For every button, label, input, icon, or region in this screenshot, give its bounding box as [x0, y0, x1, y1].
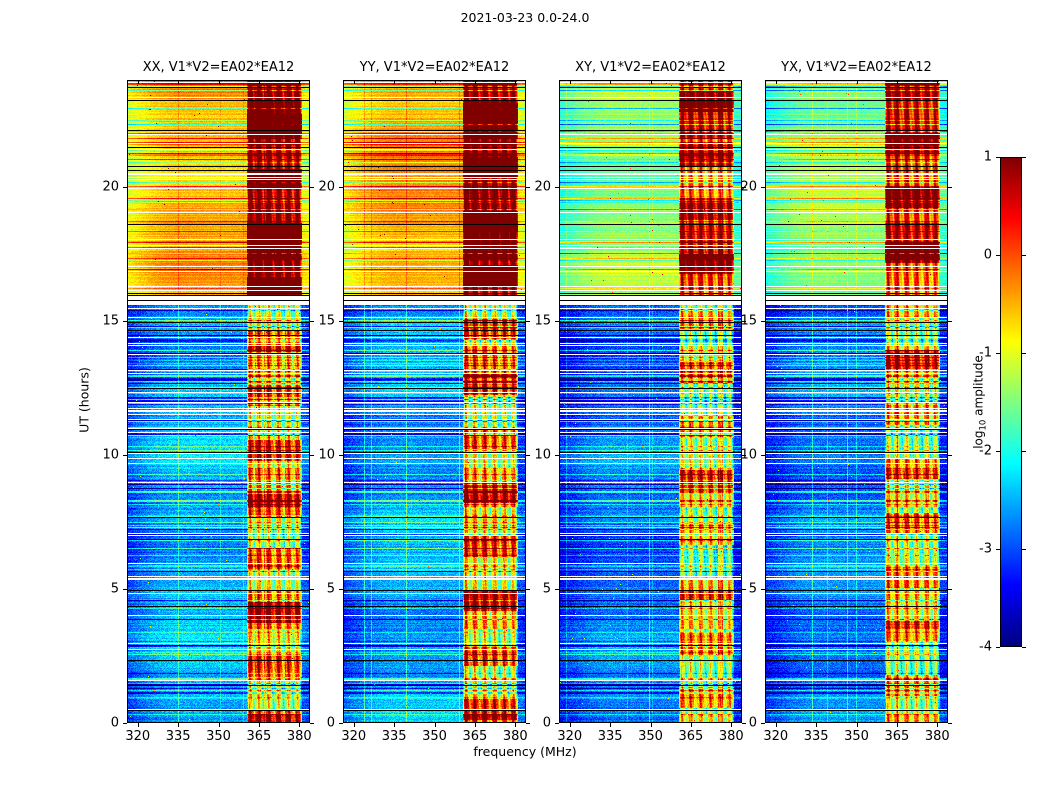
colorbar-tick-label-5: 1	[984, 150, 992, 165]
colorbar-tick-right-5	[1022, 157, 1026, 158]
colorbar-tick-right-2	[1022, 451, 1026, 452]
y-tick-yy-3	[339, 321, 343, 322]
x-tick-top-yx-0	[776, 80, 777, 84]
x-tick-label-xx-1: 335	[166, 729, 191, 744]
panel-yx[interactable]: YX, V1*V2=EA02*EA12320335350365380051015…	[765, 80, 948, 723]
y-tick-right-xx-0	[310, 723, 314, 724]
y-tick-xx-2	[123, 455, 127, 456]
colorbar-tick-right-0	[1022, 647, 1026, 648]
y-tick-right-xx-1	[310, 589, 314, 590]
y-tick-right-yy-4	[526, 187, 530, 188]
y-tick-label-yy-2: 10	[318, 448, 335, 463]
x-tick-xx-1	[178, 723, 179, 727]
x-tick-top-xx-4	[299, 80, 300, 84]
x-tick-yx-1	[816, 723, 817, 727]
y-tick-label-xy-1: 5	[543, 582, 551, 597]
x-tick-top-yx-4	[937, 80, 938, 84]
spectrogram-yx	[765, 80, 948, 723]
panel-xy[interactable]: XY, V1*V2=EA02*EA12320335350365380051015…	[559, 80, 742, 723]
x-tick-yy-2	[435, 723, 436, 727]
x-tick-label-xx-4: 380	[287, 729, 312, 744]
y-tick-right-xx-2	[310, 455, 314, 456]
x-tick-xy-4	[731, 723, 732, 727]
y-tick-right-yy-1	[526, 589, 530, 590]
y-tick-right-xy-0	[742, 723, 746, 724]
y-tick-yy-4	[339, 187, 343, 188]
x-tick-xx-3	[259, 723, 260, 727]
x-tick-label-xx-0: 320	[125, 729, 150, 744]
x-tick-label-yy-0: 320	[341, 729, 366, 744]
x-tick-label-xy-3: 365	[678, 729, 703, 744]
colorbar-tick-2	[996, 451, 1000, 452]
x-tick-xy-0	[570, 723, 571, 727]
spectrogram-xy	[559, 80, 742, 723]
y-tick-yx-2	[761, 455, 765, 456]
x-tick-label-yx-2: 350	[844, 729, 869, 744]
y-tick-right-yy-0	[526, 723, 530, 724]
x-tick-top-yy-0	[354, 80, 355, 84]
x-tick-top-xx-1	[178, 80, 179, 84]
x-tick-yy-3	[475, 723, 476, 727]
y-tick-right-yx-2	[948, 455, 952, 456]
colorbar-tick-label-4: 0	[984, 248, 992, 263]
x-tick-top-yy-4	[515, 80, 516, 84]
panel-title-yy: YY, V1*V2=EA02*EA12	[360, 60, 510, 80]
x-tick-label-xy-2: 350	[638, 729, 663, 744]
y-tick-label-yx-4: 20	[740, 180, 757, 195]
x-tick-yx-0	[776, 723, 777, 727]
x-tick-yx-2	[857, 723, 858, 727]
y-tick-label-yy-0: 0	[327, 716, 335, 731]
x-tick-top-yx-2	[857, 80, 858, 84]
colorbar-label-prefix: log	[971, 430, 985, 448]
colorbar-tick-right-4	[1022, 255, 1026, 256]
x-axis-label: frequency (MHz)	[0, 744, 1050, 759]
y-tick-xx-3	[123, 321, 127, 322]
y-tick-yx-4	[761, 187, 765, 188]
x-tick-yy-0	[354, 723, 355, 727]
y-tick-label-xy-2: 10	[534, 448, 551, 463]
y-tick-yx-1	[761, 589, 765, 590]
y-tick-right-yx-0	[948, 723, 952, 724]
y-tick-yx-0	[761, 723, 765, 724]
y-tick-xy-1	[555, 589, 559, 590]
x-tick-label-xx-2: 350	[206, 729, 231, 744]
x-tick-label-yx-3: 365	[884, 729, 909, 744]
y-tick-label-yy-4: 20	[318, 180, 335, 195]
y-tick-xy-4	[555, 187, 559, 188]
y-tick-right-yx-3	[948, 321, 952, 322]
y-tick-label-yx-1: 5	[749, 582, 757, 597]
y-tick-label-yx-0: 0	[749, 716, 757, 731]
y-axis-label: UT (hours)	[77, 367, 92, 433]
x-tick-top-yy-3	[475, 80, 476, 84]
x-tick-label-yy-1: 335	[382, 729, 407, 744]
x-tick-xx-4	[299, 723, 300, 727]
x-tick-yx-3	[897, 723, 898, 727]
panel-yy[interactable]: YY, V1*V2=EA02*EA12320335350365380051015…	[343, 80, 526, 723]
y-tick-label-yx-2: 10	[740, 448, 757, 463]
colorbar-label-sub: 10	[979, 420, 989, 431]
figure-suptitle: 2021-03-23 0.0-24.0	[0, 10, 1050, 25]
y-tick-right-yy-3	[526, 321, 530, 322]
y-tick-right-xx-4	[310, 187, 314, 188]
y-tick-xy-2	[555, 455, 559, 456]
x-tick-top-xy-2	[651, 80, 652, 84]
x-tick-xy-2	[651, 723, 652, 727]
colorbar-tick-5	[996, 157, 1000, 158]
y-tick-label-xy-4: 20	[534, 180, 551, 195]
x-tick-yy-4	[515, 723, 516, 727]
colorbar-tick-label-1: -3	[979, 542, 992, 557]
y-tick-xx-4	[123, 187, 127, 188]
y-tick-yy-0	[339, 723, 343, 724]
y-tick-yx-3	[761, 321, 765, 322]
colorbar-tick-4	[996, 255, 1000, 256]
x-tick-label-yy-4: 380	[503, 729, 528, 744]
colorbar-tick-label-0: -4	[979, 640, 992, 655]
colorbar-tick-1	[996, 549, 1000, 550]
x-tick-label-yx-0: 320	[763, 729, 788, 744]
x-tick-yx-4	[937, 723, 938, 727]
x-tick-top-yx-1	[816, 80, 817, 84]
x-tick-xx-0	[138, 723, 139, 727]
x-tick-xx-2	[219, 723, 220, 727]
y-tick-xy-0	[555, 723, 559, 724]
y-tick-label-yx-3: 15	[740, 314, 757, 329]
spectrogram-yy	[343, 80, 526, 723]
y-tick-yy-2	[339, 455, 343, 456]
x-tick-top-xy-4	[731, 80, 732, 84]
colorbar-tick-0	[996, 647, 1000, 648]
y-tick-label-yy-3: 15	[318, 314, 335, 329]
y-tick-label-xx-1: 5	[111, 582, 119, 597]
spectrogram-xx	[127, 80, 310, 723]
y-tick-xx-0	[123, 723, 127, 724]
x-tick-top-yx-3	[897, 80, 898, 84]
x-tick-top-xx-0	[138, 80, 139, 84]
y-tick-right-yx-4	[948, 187, 952, 188]
x-tick-label-xy-0: 320	[557, 729, 582, 744]
y-tick-xx-1	[123, 589, 127, 590]
x-tick-label-yy-3: 365	[462, 729, 487, 744]
y-tick-right-xy-1	[742, 589, 746, 590]
panel-xx[interactable]: XX, V1*V2=EA02*EA12320335350365380051015…	[127, 80, 310, 723]
figure-canvas: 2021-03-23 0.0-24.0 XX, V1*V2=EA02*EA123…	[0, 0, 1050, 800]
panel-title-yx: YX, V1*V2=EA02*EA12	[781, 60, 932, 80]
y-tick-label-xy-0: 0	[543, 716, 551, 731]
y-tick-label-xy-3: 15	[534, 314, 551, 329]
x-tick-top-xx-2	[219, 80, 220, 84]
y-tick-xy-3	[555, 321, 559, 322]
y-tick-label-yy-1: 5	[327, 582, 335, 597]
panel-title-xx: XX, V1*V2=EA02*EA12	[143, 60, 295, 80]
x-tick-label-yx-4: 380	[925, 729, 950, 744]
x-tick-xy-3	[691, 723, 692, 727]
y-tick-right-xx-3	[310, 321, 314, 322]
colorbar-label: log10 amplitude	[971, 355, 988, 449]
x-tick-xy-1	[610, 723, 611, 727]
y-tick-yy-1	[339, 589, 343, 590]
y-tick-label-xx-0: 0	[111, 716, 119, 731]
y-tick-label-xx-4: 20	[102, 180, 119, 195]
x-tick-top-yy-2	[435, 80, 436, 84]
x-tick-label-yy-2: 350	[422, 729, 447, 744]
x-tick-label-xy-1: 335	[598, 729, 623, 744]
colorbar: -4-3-2-101	[1000, 157, 1022, 647]
y-tick-label-xx-3: 15	[102, 314, 119, 329]
colorbar-tick-3	[996, 353, 1000, 354]
colorbar-tick-right-1	[1022, 549, 1026, 550]
x-tick-label-yx-1: 335	[804, 729, 829, 744]
colorbar-label-suffix: amplitude	[971, 355, 985, 419]
x-tick-top-yy-1	[394, 80, 395, 84]
y-tick-right-yx-1	[948, 589, 952, 590]
y-tick-label-xx-2: 10	[102, 448, 119, 463]
panel-title-xy: XY, V1*V2=EA02*EA12	[575, 60, 726, 80]
x-tick-top-xy-0	[570, 80, 571, 84]
x-tick-top-xx-3	[259, 80, 260, 84]
x-tick-label-xy-4: 380	[719, 729, 744, 744]
x-tick-top-xy-3	[691, 80, 692, 84]
x-tick-yy-1	[394, 723, 395, 727]
x-tick-label-xx-3: 365	[246, 729, 271, 744]
colorbar-tick-right-3	[1022, 353, 1026, 354]
x-tick-top-xy-1	[610, 80, 611, 84]
colorbar-gradient	[1000, 157, 1022, 647]
y-tick-right-yy-2	[526, 455, 530, 456]
